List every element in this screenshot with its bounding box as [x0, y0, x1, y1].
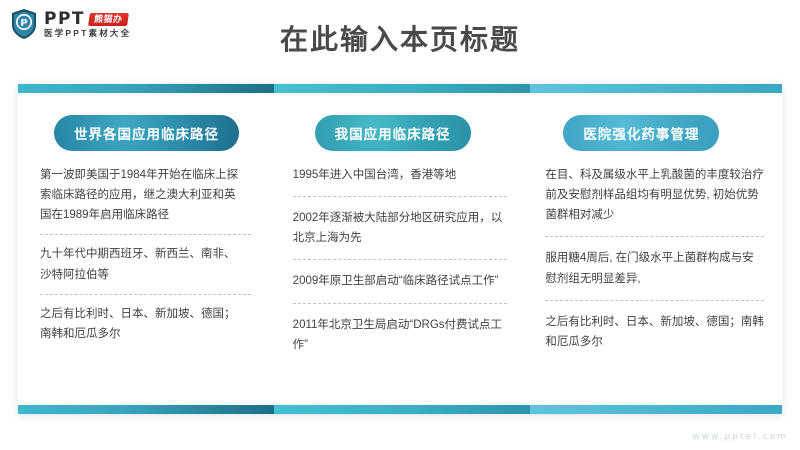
- card-body: 世界各国应用临床路径 第一波即美国于1984年开始在临床上探索临床路径的应用，继…: [18, 93, 782, 405]
- card-bottom-gradient-bar: [18, 405, 782, 414]
- column-3-block-2: 服用糖4周后, 在门级水平上菌群构成与安慰剂组无明显差异,: [545, 248, 764, 300]
- column-3-header-pill[interactable]: 医院强化药事管理: [563, 115, 719, 151]
- column-1-block-3: 之后有比利时、日本、新加坡、德国；南韩和厄瓜多尔: [40, 304, 251, 353]
- column-2-block-4: 2011年北京卫生局启动“DRGs付费试点工作”: [293, 315, 508, 366]
- column-hospital-pharmacy-management: 医院强化药事管理 在目、科及属级水平上乳酸菌的丰度较治疗前及安慰剂样品组均有明显…: [527, 93, 782, 405]
- column-1-block-2: 九十年代中期西班牙、新西兰、南非、沙特阿拉伯等: [40, 244, 251, 294]
- page-title: 在此输入本页标题: [0, 18, 800, 58]
- column-world-clinical-pathway: 世界各国应用临床路径 第一波即美国于1984年开始在临床上探索临床路径的应用，继…: [18, 93, 273, 405]
- column-2-block-1: 1995年进入中国台湾，香港等地: [293, 165, 508, 197]
- column-china-clinical-pathway: 我国应用临床路径 1995年进入中国台湾，香港等地 2002年逐渐被大陆部分地区…: [273, 93, 528, 405]
- column-1-header-pill[interactable]: 世界各国应用临床路径: [54, 115, 239, 151]
- top-bar-segment-1: [18, 84, 274, 93]
- top-bar-segment-3: [530, 84, 782, 93]
- column-2-block-2: 2002年逐渐被大陆部分地区研究应用，以北京上海为先: [293, 208, 508, 260]
- bottom-bar-segment-1: [18, 405, 274, 414]
- column-3-block-1: 在目、科及属级水平上乳酸菌的丰度较治疗前及安慰剂样品组均有明显优势, 初始优势菌…: [545, 165, 764, 237]
- column-2-header-pill[interactable]: 我国应用临床路径: [315, 115, 471, 151]
- column-3-block-3: 之后有比利时、日本、新加坡、德国；南韩和厄瓜多尔: [545, 312, 764, 363]
- bottom-bar-segment-2: [274, 405, 530, 414]
- bottom-bar-segment-3: [530, 405, 782, 414]
- column-1-block-1: 第一波即美国于1984年开始在临床上探索临床路径的应用，继之澳大利亚和英国在19…: [40, 165, 251, 235]
- content-card: 世界各国应用临床路径 第一波即美国于1984年开始在临床上探索临床路径的应用，继…: [18, 84, 782, 414]
- footer-watermark: www.ppter.com: [692, 432, 788, 442]
- column-2-block-3: 2009年原卫生部启动“临床路径试点工作”: [293, 271, 508, 303]
- top-bar-segment-2: [274, 84, 530, 93]
- card-top-gradient-bar: [18, 84, 782, 93]
